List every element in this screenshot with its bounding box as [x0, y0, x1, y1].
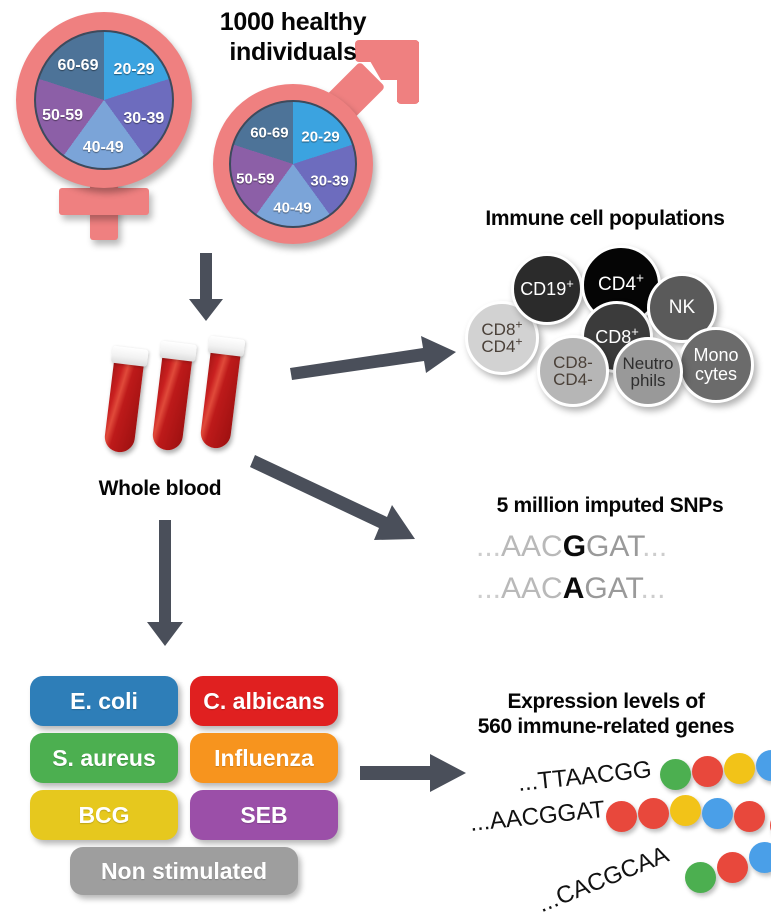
- whole-blood-tubes: [95, 335, 295, 455]
- immune-cell-cd8neg-cd4neg: CD8-CD4-: [537, 335, 609, 407]
- stimulus-label: S. aureus: [52, 745, 156, 772]
- age-group-label-60-69: 60-69: [58, 57, 99, 75]
- age-group-label-60-69: 60-69: [250, 124, 288, 141]
- snp-leading-dots: ...: [476, 530, 501, 563]
- immune-cell-label: CD4+: [598, 275, 644, 295]
- female-symbol: 20-2930-3940-4950-5960-69: [8, 6, 198, 241]
- age-group-label-40-49: 40-49: [83, 139, 124, 157]
- stimulus-label: C. albicans: [203, 688, 324, 715]
- blood-tube-fill: [103, 358, 144, 454]
- snp-allele-2: ...AACAGAT...: [476, 572, 666, 606]
- stimulus-c-albicans[interactable]: C. albicans: [190, 676, 338, 726]
- expression-strands: ...TTAACGG ...AACGGAT ...CACGCAA: [440, 740, 771, 922]
- page-title: 1000 healthy individuals: [178, 8, 408, 67]
- stimulus-seb[interactable]: SEB: [190, 790, 338, 840]
- immune-cell-label: NK: [669, 298, 695, 318]
- whole-blood-label: Whole blood: [60, 477, 260, 502]
- stimulation-panel: E. coli C. albicans S. aureus Influenza …: [30, 676, 340, 891]
- snp-sequences: ...AACGGAT... ...AACAGAT...: [470, 530, 760, 620]
- expression-strand-3: ...CACGCAA: [545, 840, 771, 900]
- expression-bead-green: [660, 759, 691, 790]
- snp-variant-g: G: [563, 530, 586, 563]
- expression-bead-red: [638, 798, 669, 829]
- expression-title-line1: Expression levels of: [446, 690, 766, 715]
- arrow-blood-to-immune-cells: [290, 330, 460, 390]
- arrow-blood-to-stimulations: [140, 520, 190, 650]
- immune-cell-label: CD8+CD4+: [481, 321, 522, 356]
- snp-title: 5 million imputed SNPs: [460, 494, 760, 519]
- snp-trailing-dots: ...: [641, 572, 666, 605]
- stimulus-label: E. coli: [70, 688, 138, 715]
- blood-tube: [151, 341, 194, 452]
- stimulus-label: Non stimulated: [101, 858, 267, 885]
- snp-prefix: AAC: [501, 572, 563, 605]
- arrow-cohort-to-blood: [175, 253, 235, 323]
- expression-bead-green: [685, 862, 716, 893]
- expression-bead-yellow: [670, 795, 701, 826]
- stimulus-e-coli[interactable]: E. coli: [30, 676, 178, 726]
- page-title-line1: 1000 healthy: [178, 8, 408, 38]
- age-distribution-pie-female: 20-2930-3940-4950-5960-69: [34, 30, 174, 170]
- blood-tube: [103, 346, 146, 454]
- immune-cell-label: CD19+: [520, 280, 574, 299]
- blood-tube: [199, 336, 242, 450]
- expression-bead-blue: [702, 798, 733, 829]
- expression-title-line2: 560 immune-related genes: [446, 715, 766, 740]
- immune-cell-label: Monocytes: [693, 346, 738, 383]
- blood-tube-fill: [151, 353, 192, 452]
- expression-bead-red: [734, 801, 765, 832]
- expression-strand-2: ...AACGGAT: [470, 788, 760, 840]
- immune-cell-cd19pos: CD19+: [511, 253, 583, 325]
- snp-trailing-dots: ...: [642, 530, 667, 563]
- snp-suffix: GAT: [584, 572, 640, 605]
- arrow-blood-to-snps: [255, 455, 455, 550]
- expression-strand-sequence: ...CACGCAA: [534, 841, 673, 919]
- expression-strand-sequence: ...AACGGAT: [469, 796, 607, 838]
- immune-cell-label: CD8-CD4-: [553, 354, 593, 389]
- female-symbol-cross: [59, 188, 149, 215]
- age-group-label-40-49: 40-49: [273, 200, 311, 217]
- stimulus-label: SEB: [240, 802, 287, 829]
- age-group-label-50-59: 50-59: [236, 170, 274, 187]
- age-distribution-pie-male: 20-2930-3940-4950-5960-69: [229, 100, 357, 228]
- snp-suffix: GAT: [586, 530, 642, 563]
- page-title-line2: individuals: [178, 38, 408, 68]
- stimulus-s-aureus[interactable]: S. aureus: [30, 733, 178, 783]
- snp-prefix: AAC: [501, 530, 563, 563]
- expression-bead-red: [692, 756, 723, 787]
- age-group-label-30-39: 30-39: [310, 173, 348, 190]
- stimulus-label: Influenza: [214, 745, 314, 772]
- stimulus-bcg[interactable]: BCG: [30, 790, 178, 840]
- male-symbol: 20-2930-3940-4950-5960-69: [205, 40, 425, 250]
- age-group-label-30-39: 30-39: [123, 110, 164, 128]
- immune-cell-label: Neutrophils: [622, 355, 673, 390]
- age-group-label-20-29: 20-29: [301, 128, 339, 145]
- stimulus-non-stimulated[interactable]: Non stimulated: [70, 847, 298, 895]
- expression-bead-red: [717, 852, 748, 883]
- immune-cell-cluster: CD8+CD4+ CD19+ CD4+ CD8+ NK Monocytes Ne…: [465, 245, 755, 410]
- snp-variant-a: A: [563, 572, 585, 605]
- immune-cell-monocytes: Monocytes: [678, 327, 754, 403]
- immune-cell-populations-title: Immune cell populations: [450, 207, 760, 232]
- age-group-label-20-29: 20-29: [114, 61, 155, 79]
- stimulus-influenza[interactable]: Influenza: [190, 733, 338, 783]
- snp-leading-dots: ...: [476, 572, 501, 605]
- expression-bead-yellow: [724, 753, 755, 784]
- immune-cell-neutrophils: Neutrophils: [613, 337, 683, 407]
- blood-tube-fill: [199, 348, 241, 450]
- stimulus-label: BCG: [78, 802, 129, 829]
- snp-allele-1: ...AACGGAT...: [476, 530, 667, 564]
- expression-bead-blue: [756, 750, 771, 781]
- expression-bead-red: [606, 801, 637, 832]
- expression-bead-blue: [749, 842, 771, 873]
- expression-title: Expression levels of 560 immune-related …: [446, 690, 766, 740]
- age-group-label-50-59: 50-59: [42, 107, 83, 125]
